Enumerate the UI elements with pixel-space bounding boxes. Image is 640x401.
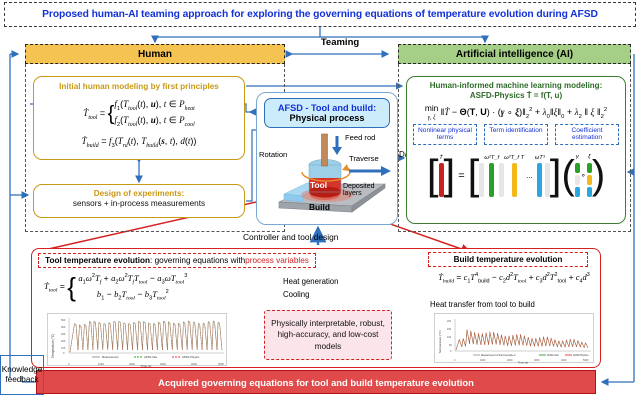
controller-and-tool-design-label: Controller and tool design <box>243 232 338 242</box>
svg-text:Measurement: Measurement <box>102 355 119 359</box>
svg-text:Temperature (°C): Temperature (°C) <box>438 330 442 353</box>
svg-text:200: 200 <box>61 339 66 343</box>
afsd-title-line2: Physical process <box>289 113 364 123</box>
svg-text:100: 100 <box>447 336 452 339</box>
knowledge-feedback-line2: feedback <box>5 375 38 385</box>
first-principles-equation-build: Ṫbuild = f3(Trd(t), Tbuild(s, t), d(t)) <box>34 136 244 149</box>
ai-panel-title-line1: Human-informed machine learning modeling… <box>407 81 625 90</box>
heat-transfer-note: Heat transfer from tool to build <box>430 300 535 309</box>
traverse-label: Traverse <box>349 154 379 163</box>
svg-text:1000: 1000 <box>98 362 104 366</box>
afsd-illustration: Rotation Feed rod Traverse Tool Deposite… <box>257 126 399 221</box>
svg-text:300: 300 <box>61 332 66 336</box>
tool-title-bold: Tool temperature evolution <box>45 256 150 265</box>
svg-text:0: 0 <box>68 362 70 366</box>
doe-title: Design of experiments: <box>34 189 244 198</box>
deposited-layers-label: Deposited layers <box>343 183 385 197</box>
svg-text:4000: 4000 <box>191 362 197 366</box>
hadamard-operator: ∘ <box>580 171 587 180</box>
svg-text:AFSD-Vels: AFSD-Vels <box>547 354 559 357</box>
knowledge-feedback-box: Knowledge feedback <box>0 355 44 395</box>
svg-text:5000: 5000 <box>583 359 589 362</box>
doe-subtitle: sensors + in-process measurements <box>34 199 244 208</box>
footer-banner: Acquired governing equations for tool an… <box>36 370 596 394</box>
afsd-title-line1: AFSD - Tool and build: <box>278 103 376 113</box>
svg-text:AFSD-Physics: AFSD-Physics <box>573 354 589 357</box>
build-label: Build <box>309 202 330 212</box>
svg-text:0: 0 <box>454 359 456 362</box>
svg-text:50: 50 <box>449 344 452 347</box>
tool-title-red: process variables <box>245 256 309 265</box>
build-temperature-chart: Temperature (°C) 200150100 500 010002000… <box>434 313 594 363</box>
svg-text:500: 500 <box>61 318 66 322</box>
svg-text:Measurement of thermocouple 2: Measurement of thermocouple 2 <box>481 354 516 357</box>
diagram-title-banner: Proposed human-AI teaming approach for e… <box>4 2 636 27</box>
human-header-box: Human <box>25 44 285 64</box>
svg-text:2000: 2000 <box>507 359 513 362</box>
tool-eq-line2: b1 − b2Ttool − b3Ttool2 <box>97 289 169 299</box>
svg-text:5000: 5000 <box>218 362 224 366</box>
tag-nonlinear-physical-terms: Nonlinear physical terms <box>413 124 477 144</box>
first-principles-title: Initial human modeling by first principl… <box>34 82 244 91</box>
first-principles-equation-tool: Ṫtool = { f1(Ttool(t), u), t ∈ Pheat f2(… <box>34 98 244 129</box>
svg-text:3000: 3000 <box>534 359 540 362</box>
cooling-note: Cooling <box>283 290 309 299</box>
afsd-title-box: AFSD - Tool and build: Physical process <box>264 98 390 128</box>
diagram-title: Proposed human-AI teaming approach for e… <box>42 9 598 20</box>
svg-text:AFSD-Physics: AFSD-Physics <box>182 355 200 359</box>
model-qualities-note: Physically interpretable, robust, high-a… <box>264 310 392 360</box>
tag-term-identification: Term identification <box>484 124 548 144</box>
feed-rod-label: Feed rod <box>345 133 375 142</box>
matrix-col-2: ω²T_f T <box>504 155 524 197</box>
svg-text:Time (s): Time (s) <box>518 361 528 365</box>
svg-text:3000: 3000 <box>160 362 166 366</box>
ai-tag-row: Nonlinear physical terms Term identifica… <box>407 121 625 144</box>
tool-title-rest: : governing equations with <box>150 256 245 265</box>
svg-text:200: 200 <box>447 320 452 323</box>
first-principles-panel: Initial human modeling by first principl… <box>33 76 245 160</box>
footer-text: Acquired governing equations for tool an… <box>158 377 474 388</box>
svg-text:400: 400 <box>61 325 66 329</box>
matrix-col-1: ω²T_f <box>484 155 499 197</box>
heat-generation-note: Heat generation <box>283 277 338 286</box>
ai-header-box: Artificial intelligence (AI) <box>398 44 631 64</box>
svg-text:Time (s): Time (s) <box>141 364 152 367</box>
svg-text:0: 0 <box>450 350 452 353</box>
tool-temperature-title: Tool temperature evolution: governing eq… <box>38 253 316 268</box>
teaming-label: Teaming <box>300 37 380 48</box>
rotation-label: Rotation <box>259 150 287 159</box>
tag-coefficient-estimation: Coefficient estimation <box>555 124 619 144</box>
svg-text:100: 100 <box>61 346 66 350</box>
knowledge-feedback-line1: Knowledge <box>2 365 43 375</box>
afsd-process-panel: AFSD - Tool and build: Physical process <box>256 92 398 225</box>
ai-panel-title-line2: ASFD-Physics Ṫ = f(T, u) <box>407 91 625 100</box>
matrix-col-3: ωT³ <box>535 155 545 197</box>
tool-temperature-equation: Ṫtool = { a1ω2Tf + a2ω2TfTtool − a3ωTtoo… <box>44 272 259 303</box>
tool-label: Tool <box>310 180 327 190</box>
ai-objective-equation: minγ, ξ ‖Ṫ − Θ(T, U) · (γ ∘ ξ)‖22 + λ0‖ξ… <box>407 104 625 121</box>
svg-text:4000: 4000 <box>561 359 567 362</box>
svg-text:AFSD-Vels: AFSD-Vels <box>144 355 158 359</box>
build-temperature-equation: Ṫbuild = c1T4build − c2d2Ttool + c3d2T2t… <box>398 272 630 285</box>
svg-text:0: 0 <box>63 351 65 355</box>
human-label: Human <box>138 49 172 60</box>
tool-temperature-chart: Temperature (°C) 500400300 2001000 01000… <box>47 313 227 366</box>
svg-text:Temperature (°C): Temperature (°C) <box>51 334 55 358</box>
svg-text:2000: 2000 <box>129 362 135 366</box>
design-of-experiments-panel: Design of experiments: sensors + in-proc… <box>33 184 245 218</box>
sindy-matrix-equation: [ Ṫ ] = [ ω²T_f ω²T_f T ... ωT³ ] ( γ <box>407 147 625 205</box>
svg-text:1000: 1000 <box>480 359 486 362</box>
ai-modeling-panel: Human-informed machine learning modeling… <box>406 76 626 224</box>
ai-label: Artificial intelligence (AI) <box>456 49 573 60</box>
build-temperature-title: Build temperature evolution <box>428 252 588 267</box>
matrix-ellipsis: ... <box>524 171 535 180</box>
tool-eq-line1: a1ω2Tf + a2ω2TfTtool − a3ωTtool3 <box>78 273 187 283</box>
svg-text:150: 150 <box>447 328 452 331</box>
